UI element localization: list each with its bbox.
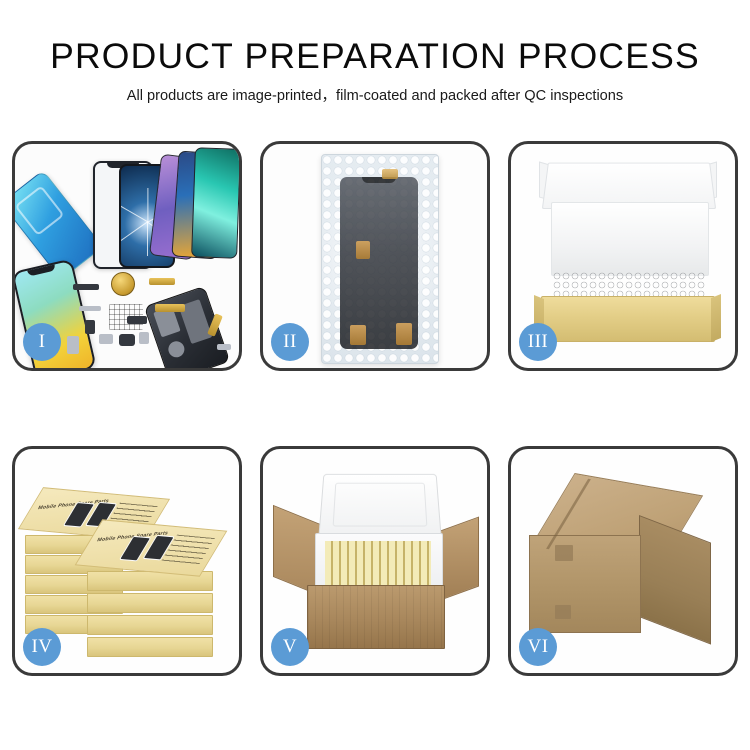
carton-tape-graphic <box>555 545 573 561</box>
part-graphic <box>85 320 95 334</box>
part-graphic <box>127 316 147 324</box>
foam-sheet-graphic <box>551 202 709 276</box>
carton-tape-graphic <box>555 605 571 619</box>
part-graphic <box>139 332 149 344</box>
step-badge-6: VI <box>519 628 557 666</box>
part-graphic <box>119 334 135 346</box>
step-panel-5: V <box>260 446 490 676</box>
carton-body-graphic <box>307 585 445 649</box>
part-graphic <box>99 334 113 344</box>
page-title: PRODUCT PREPARATION PROCESS <box>0 34 750 78</box>
header: PRODUCT PREPARATION PROCESS All products… <box>0 34 750 106</box>
stacked-box <box>87 615 213 635</box>
step-badge-5: V <box>271 628 309 666</box>
step-badge-4: IV <box>23 628 61 666</box>
part-graphic <box>155 304 185 312</box>
part-graphic <box>67 336 79 354</box>
page-subtitle: All products are image-printed，film-coat… <box>0 86 750 106</box>
carton-front-face-graphic <box>529 535 641 633</box>
step-panel-6: VI <box>508 446 738 676</box>
styrofoam-lid-graphic <box>318 474 441 537</box>
adhesive-tab-graphic <box>382 169 398 179</box>
step-panel-2: II <box>260 141 490 371</box>
packed-yellow-boxes-graphic <box>325 541 431 587</box>
flex-cable-graphic <box>356 241 370 259</box>
speaker-module-graphic <box>111 272 135 296</box>
steps-grid: I II <box>12 141 738 676</box>
part-graphic <box>217 344 231 350</box>
kraft-box-side-graphic <box>711 294 721 342</box>
step-badge-3: III <box>519 323 557 361</box>
step-badge-2: II <box>271 323 309 361</box>
flex-cable-graphic <box>350 325 366 345</box>
flex-cable-graphic <box>396 323 412 345</box>
kraft-box-base-graphic <box>541 296 715 342</box>
step-badge-1: I <box>23 323 61 361</box>
part-graphic <box>149 278 175 285</box>
stacked-box <box>87 593 213 613</box>
product-preparation-infographic: PRODUCT PREPARATION PROCESS All products… <box>0 0 750 750</box>
step-panel-4: Mobile Phone Spare Parts Mobile Phone Sp… <box>12 446 242 676</box>
bubble-wrap-bag-graphic <box>321 154 439 364</box>
stacked-box <box>87 637 213 657</box>
part-graphic <box>73 284 99 290</box>
part-graphic <box>79 306 101 311</box>
step-panel-1: I <box>12 141 242 371</box>
phone-teal-graphic <box>191 147 239 259</box>
carton-side-face-graphic <box>639 515 711 645</box>
step-panel-3: III <box>508 141 738 371</box>
